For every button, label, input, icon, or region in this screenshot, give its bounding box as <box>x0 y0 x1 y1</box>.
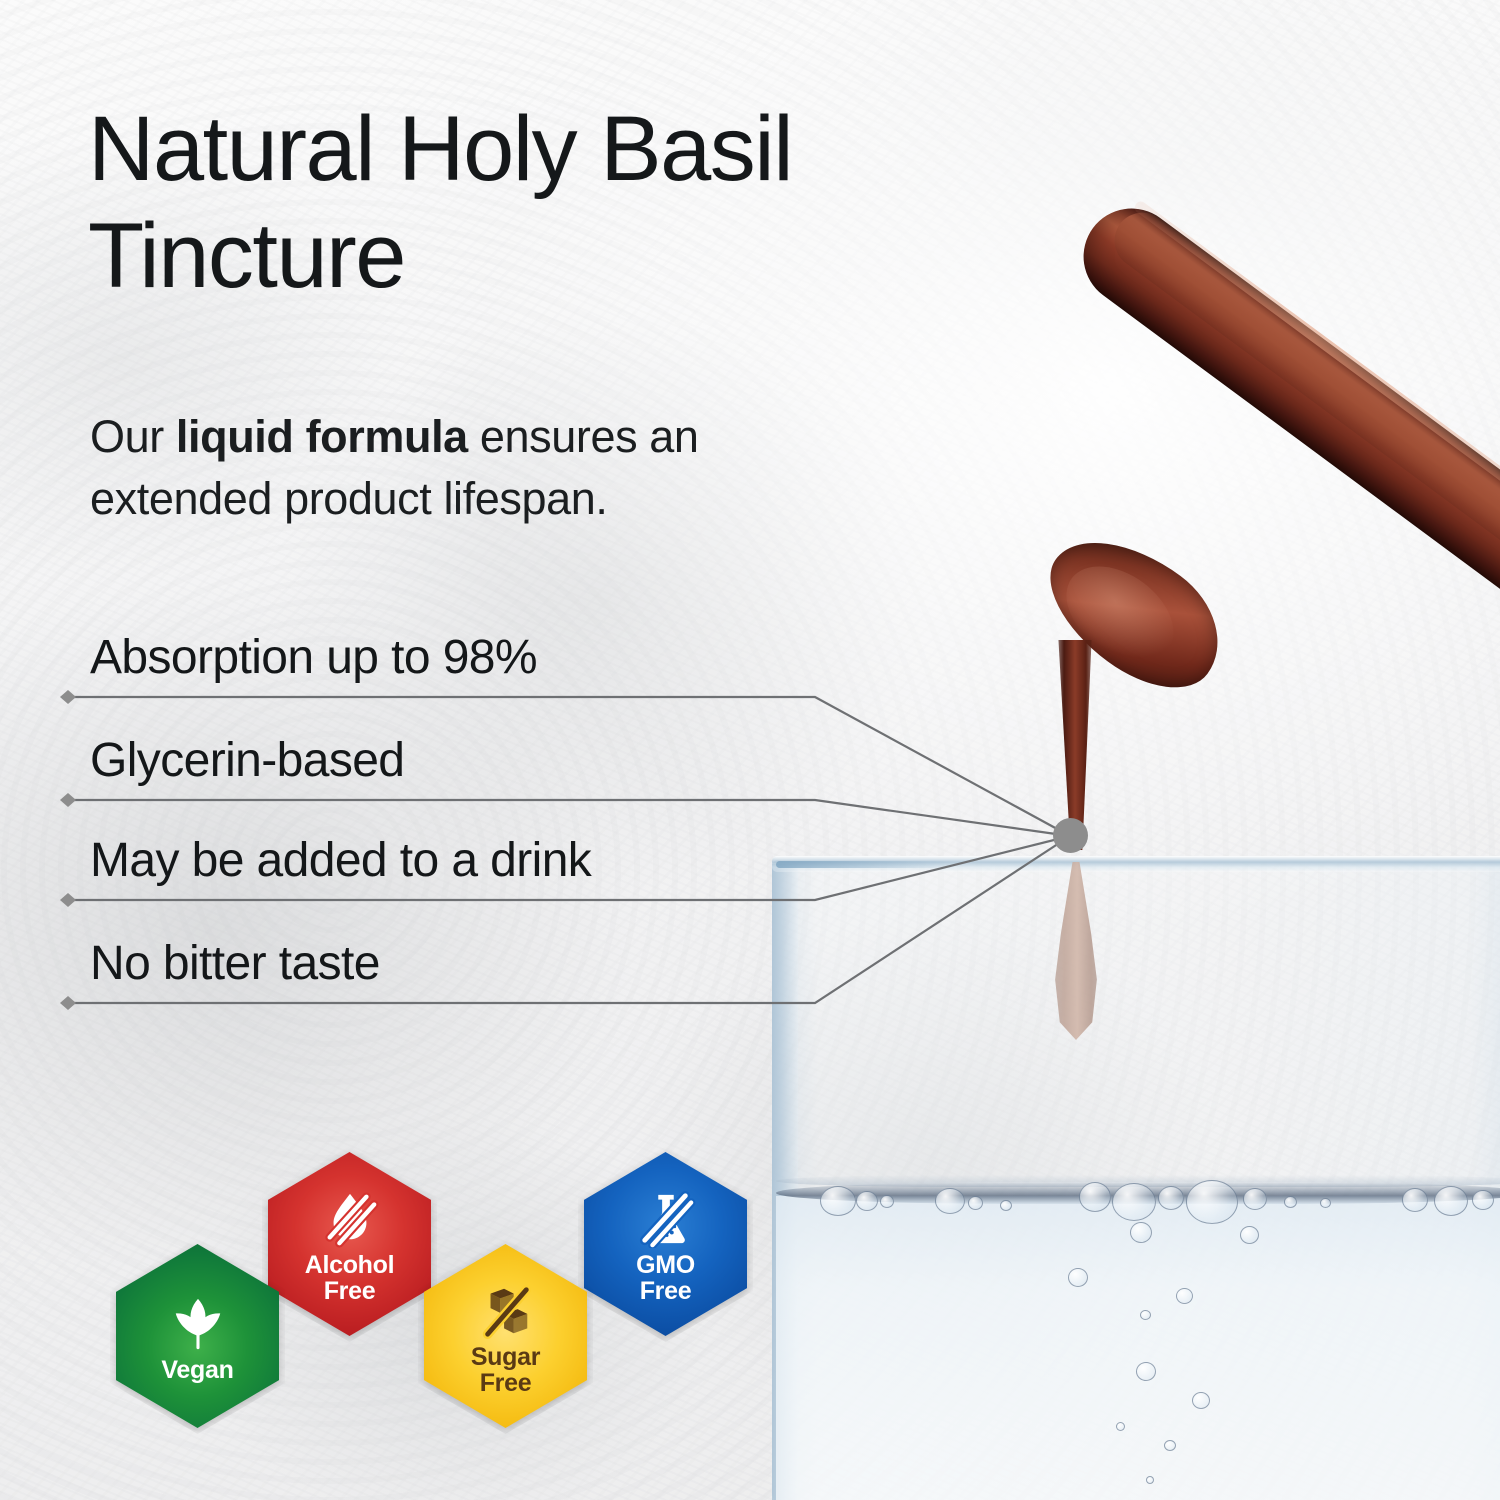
bubble <box>968 1196 983 1210</box>
bubble <box>1186 1180 1238 1224</box>
feature-label-drink: May be added to a drink <box>90 837 591 885</box>
bubble <box>1176 1288 1193 1304</box>
badge-gmo-label: GMO Free <box>636 1252 695 1304</box>
glass-rim-highlight <box>776 861 956 868</box>
bubble <box>1136 1362 1156 1381</box>
bubble <box>820 1186 856 1216</box>
page-title: Natural Holy Basil Tincture <box>88 96 1108 309</box>
subtitle-emphasis: liquid formula <box>176 411 468 462</box>
bubble <box>1472 1190 1494 1210</box>
badge-vegan-label: Vegan <box>161 1357 233 1383</box>
bubble <box>1320 1198 1331 1208</box>
bubble <box>1434 1186 1468 1216</box>
badge-sugar-label: Sugar Free <box>471 1344 540 1396</box>
bubble <box>1068 1268 1088 1287</box>
bubble <box>1079 1182 1111 1212</box>
feature-label-glycerin: Glycerin-based <box>90 737 404 785</box>
leaf-icon <box>167 1295 229 1353</box>
feature-label-absorption: Absorption up to 98% <box>90 634 537 682</box>
subtitle-lead: Our <box>90 411 176 462</box>
sugar-cube-slash-icon <box>475 1282 537 1340</box>
bubble <box>1158 1186 1184 1210</box>
bubble <box>1240 1226 1259 1244</box>
bubble <box>856 1191 878 1211</box>
bubble <box>1402 1188 1428 1212</box>
bubble <box>1130 1222 1152 1243</box>
badge-alcohol-label: Alcohol Free <box>305 1252 395 1304</box>
bubble <box>1146 1476 1154 1484</box>
bubble <box>1112 1183 1156 1221</box>
product-infographic: Natural Holy Basil Tincture Our liquid f… <box>0 0 1500 1500</box>
leader-convergence-dot <box>1053 818 1088 853</box>
bubble <box>1192 1392 1210 1409</box>
droplet-slash-icon <box>319 1190 381 1248</box>
bubble <box>1284 1196 1297 1208</box>
subtitle: Our liquid formula ensures an extended p… <box>90 406 880 530</box>
feature-label-taste: No bitter taste <box>90 940 380 988</box>
bubble <box>1000 1200 1012 1211</box>
bubble <box>1140 1310 1151 1320</box>
bubble <box>1243 1188 1267 1210</box>
bubble <box>1116 1422 1125 1431</box>
bubble <box>935 1188 965 1214</box>
bubble <box>1164 1440 1176 1451</box>
flask-slash-icon <box>635 1190 697 1248</box>
bubble <box>880 1195 894 1208</box>
